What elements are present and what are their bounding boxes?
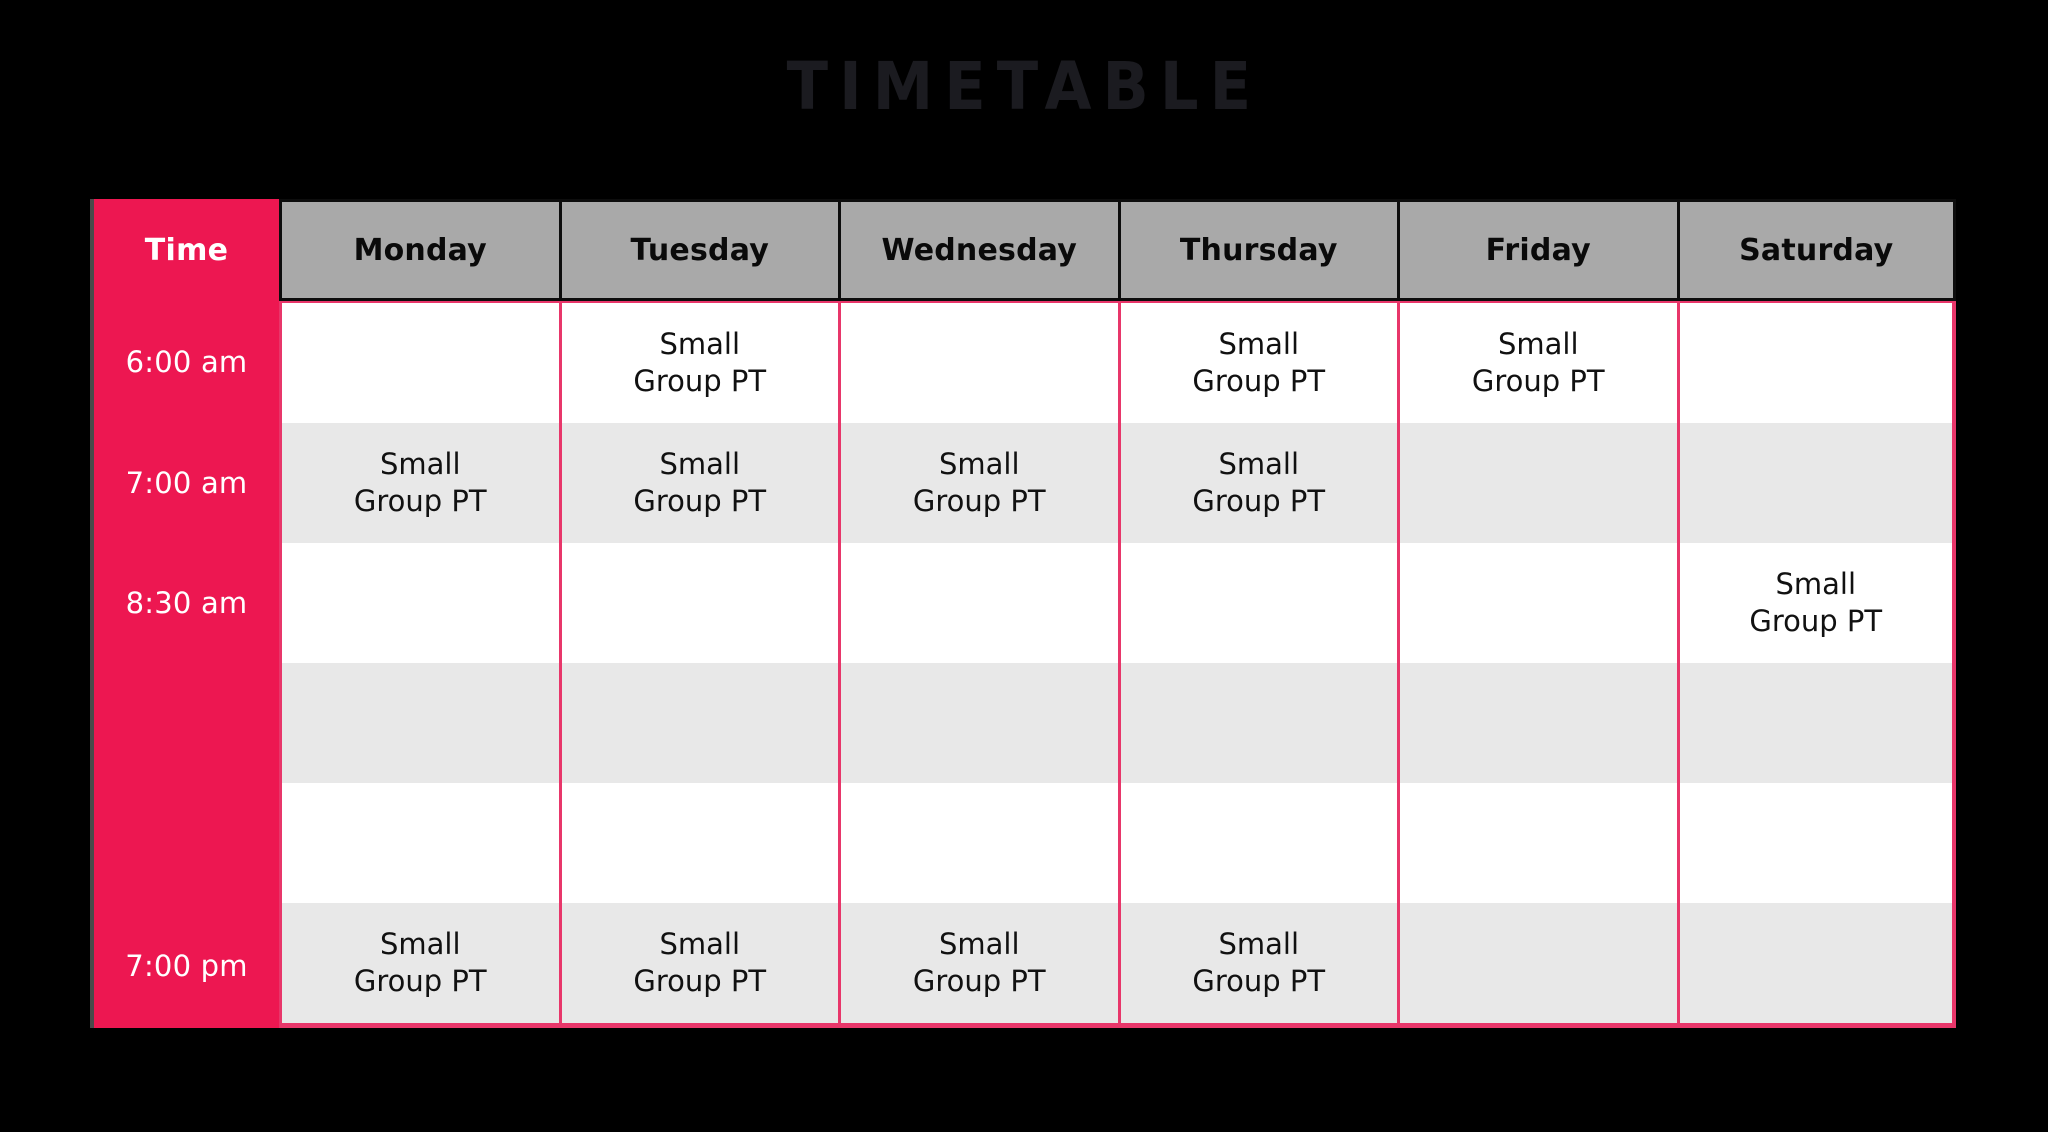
timetable-body: 6:00 amSmallGroup PTSmallGroup PTSmallGr…: [90, 301, 1956, 1028]
header-row: Time Monday Tuesday Wednesday Thursday F…: [90, 199, 1956, 301]
schedule-cell-wednesday[interactable]: SmallGroup PT: [838, 903, 1118, 1028]
schedule-cell-saturday[interactable]: [1677, 663, 1957, 783]
schedule-cell-wednesday[interactable]: SmallGroup PT: [838, 423, 1118, 543]
class-label-line1: Small: [913, 926, 1046, 963]
timetable: Time Monday Tuesday Wednesday Thursday F…: [90, 199, 1956, 1028]
schedule-cell-wednesday[interactable]: [838, 663, 1118, 783]
schedule-cell-tuesday[interactable]: [559, 663, 839, 783]
class-label: SmallGroup PT: [1192, 926, 1325, 1000]
class-label: SmallGroup PT: [1749, 566, 1882, 640]
schedule-cell-thursday[interactable]: [1118, 663, 1398, 783]
column-header-monday: Monday: [279, 199, 559, 301]
timetable-header: Time Monday Tuesday Wednesday Thursday F…: [90, 199, 1956, 301]
class-label-line2: Group PT: [1749, 603, 1882, 640]
class-label: SmallGroup PT: [633, 926, 766, 1000]
schedule-cell-tuesday[interactable]: SmallGroup PT: [559, 423, 839, 543]
class-label-line2: Group PT: [1472, 363, 1605, 400]
timetable-row: 7:00 pmSmallGroup PTSmallGroup PTSmallGr…: [90, 903, 1956, 1028]
class-label-line1: Small: [1192, 326, 1325, 363]
column-header-wednesday: Wednesday: [838, 199, 1118, 301]
time-label: 7:00 pm: [90, 903, 279, 1028]
class-label: SmallGroup PT: [633, 446, 766, 520]
page-title-container: TIMETABLE: [0, 52, 2048, 121]
class-label-line1: Small: [913, 446, 1046, 483]
schedule-cell-friday[interactable]: [1397, 783, 1677, 903]
page-title: TIMETABLE: [786, 52, 1261, 121]
schedule-cell-wednesday[interactable]: [838, 543, 1118, 663]
class-label-line2: Group PT: [633, 363, 766, 400]
schedule-cell-thursday[interactable]: SmallGroup PT: [1118, 423, 1398, 543]
timetable-row: 7:00 amSmallGroup PTSmallGroup PTSmallGr…: [90, 423, 1956, 543]
column-header-friday: Friday: [1397, 199, 1677, 301]
class-label-line2: Group PT: [1192, 483, 1325, 520]
column-header-time: Time: [90, 199, 279, 301]
schedule-cell-monday[interactable]: [279, 301, 559, 423]
schedule-cell-monday[interactable]: SmallGroup PT: [279, 423, 559, 543]
class-label-line1: Small: [1749, 566, 1882, 603]
column-header-saturday: Saturday: [1677, 199, 1957, 301]
timetable-row: [90, 783, 1956, 903]
class-label: SmallGroup PT: [913, 926, 1046, 1000]
schedule-cell-friday[interactable]: SmallGroup PT: [1397, 301, 1677, 423]
schedule-cell-thursday[interactable]: SmallGroup PT: [1118, 903, 1398, 1028]
schedule-cell-monday[interactable]: [279, 543, 559, 663]
class-label: SmallGroup PT: [1192, 446, 1325, 520]
class-label-line1: Small: [1192, 926, 1325, 963]
schedule-cell-tuesday[interactable]: SmallGroup PT: [559, 301, 839, 423]
schedule-cell-friday[interactable]: [1397, 903, 1677, 1028]
class-label-line1: Small: [354, 926, 487, 963]
time-label: 7:00 am: [90, 423, 279, 543]
class-label: SmallGroup PT: [1472, 326, 1605, 400]
schedule-cell-thursday[interactable]: SmallGroup PT: [1118, 301, 1398, 423]
schedule-cell-saturday[interactable]: SmallGroup PT: [1677, 543, 1957, 663]
time-label: [90, 783, 279, 903]
class-label-line1: Small: [1472, 326, 1605, 363]
class-label-line1: Small: [633, 926, 766, 963]
class-label-line2: Group PT: [913, 483, 1046, 520]
column-header-thursday: Thursday: [1118, 199, 1398, 301]
class-label-line1: Small: [354, 446, 487, 483]
timetable-row: 6:00 amSmallGroup PTSmallGroup PTSmallGr…: [90, 301, 1956, 423]
class-label: SmallGroup PT: [354, 926, 487, 1000]
schedule-cell-thursday[interactable]: [1118, 543, 1398, 663]
schedule-cell-saturday[interactable]: [1677, 783, 1957, 903]
class-label: SmallGroup PT: [633, 326, 766, 400]
schedule-cell-friday[interactable]: [1397, 423, 1677, 543]
schedule-cell-thursday[interactable]: [1118, 783, 1398, 903]
class-label-line2: Group PT: [354, 963, 487, 1000]
schedule-cell-friday[interactable]: [1397, 663, 1677, 783]
class-label-line2: Group PT: [633, 963, 766, 1000]
class-label-line1: Small: [633, 326, 766, 363]
schedule-cell-friday[interactable]: [1397, 543, 1677, 663]
timetable-page: TIMETABLE Time Monday Tuesday Wednesday …: [0, 0, 2048, 1132]
class-label-line2: Group PT: [1192, 963, 1325, 1000]
schedule-cell-tuesday[interactable]: SmallGroup PT: [559, 903, 839, 1028]
class-label: SmallGroup PT: [354, 446, 487, 520]
schedule-cell-tuesday[interactable]: [559, 543, 839, 663]
class-label-line2: Group PT: [354, 483, 487, 520]
schedule-cell-monday[interactable]: [279, 783, 559, 903]
class-label-line2: Group PT: [1192, 363, 1325, 400]
time-label: 8:30 am: [90, 543, 279, 663]
schedule-cell-saturday[interactable]: [1677, 423, 1957, 543]
timetable-row: [90, 663, 1956, 783]
timetable-row: 8:30 amSmallGroup PT: [90, 543, 1956, 663]
schedule-cell-monday[interactable]: SmallGroup PT: [279, 903, 559, 1028]
schedule-cell-tuesday[interactable]: [559, 783, 839, 903]
schedule-cell-wednesday[interactable]: [838, 783, 1118, 903]
schedule-cell-wednesday[interactable]: [838, 301, 1118, 423]
class-label-line2: Group PT: [633, 483, 766, 520]
class-label: SmallGroup PT: [913, 446, 1046, 520]
schedule-cell-monday[interactable]: [279, 663, 559, 783]
class-label-line2: Group PT: [913, 963, 1046, 1000]
column-header-tuesday: Tuesday: [559, 199, 839, 301]
class-label: SmallGroup PT: [1192, 326, 1325, 400]
class-label-line1: Small: [1192, 446, 1325, 483]
time-label: [90, 663, 279, 783]
timetable-container: Time Monday Tuesday Wednesday Thursday F…: [90, 199, 1956, 1028]
time-label: 6:00 am: [90, 301, 279, 423]
class-label-line1: Small: [633, 446, 766, 483]
schedule-cell-saturday[interactable]: [1677, 903, 1957, 1028]
schedule-cell-saturday[interactable]: [1677, 301, 1957, 423]
